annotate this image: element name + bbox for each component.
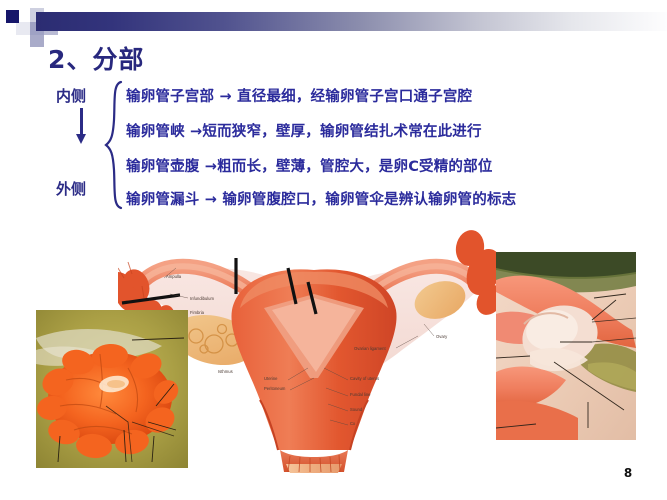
direction-label-outer: 外侧 [56, 178, 86, 199]
page-title: 2、分部 [48, 40, 144, 76]
part-line-infundibulum: 输卵管漏斗 → 输卵管腹腔口，输卵管伞是辨认输卵管的标志 [126, 188, 516, 209]
svg-text:Peritoneum: Peritoneum [264, 386, 286, 391]
svg-text:Infundibulum: Infundibulum [190, 296, 214, 301]
deco-square [16, 22, 30, 35]
svg-text:Cx: Cx [350, 421, 356, 426]
slide-canvas: 2、分部 内侧 外侧 输卵管子宫部 → 直径最细，经输卵管子宫口通子宫腔 输卵管… [0, 0, 667, 500]
page-number: 8 [618, 466, 638, 480]
deco-square-dark [6, 10, 19, 23]
tube-specimen-photo-inset [496, 252, 636, 440]
deco-square [30, 35, 44, 47]
part-line-ampulla: 输卵管壶腹 →粗而长，壁薄，管腔大，是卵C受精的部位 [126, 155, 493, 176]
svg-text:Ovary: Ovary [436, 334, 448, 339]
svg-text:Fimbria: Fimbria [190, 310, 205, 315]
svg-text:Ampulla: Ampulla [166, 274, 182, 279]
svg-text:Sound: Sound [350, 407, 363, 412]
part-line-isthmus: 输卵管峡 →短而狭窄，壁厚，输卵管结扎术常在此进行 [126, 120, 482, 141]
svg-text:Cavity of uterus: Cavity of uterus [350, 376, 379, 381]
svg-text:Fundal line: Fundal line [350, 392, 371, 397]
header-gradient-bar [36, 12, 667, 31]
svg-text:Isthmus: Isthmus [218, 369, 233, 374]
grouping-brace-icon [104, 80, 124, 210]
direction-label-inner: 内侧 [56, 85, 86, 106]
part-line-uterine: 输卵管子宫部 → 直径最细，经输卵管子宫口通子宫腔 [126, 85, 472, 106]
svg-text:Uterine: Uterine [264, 376, 278, 381]
fimbriae-photo-inset [36, 310, 188, 468]
svg-text:Ovarian ligament: Ovarian ligament [354, 346, 386, 351]
